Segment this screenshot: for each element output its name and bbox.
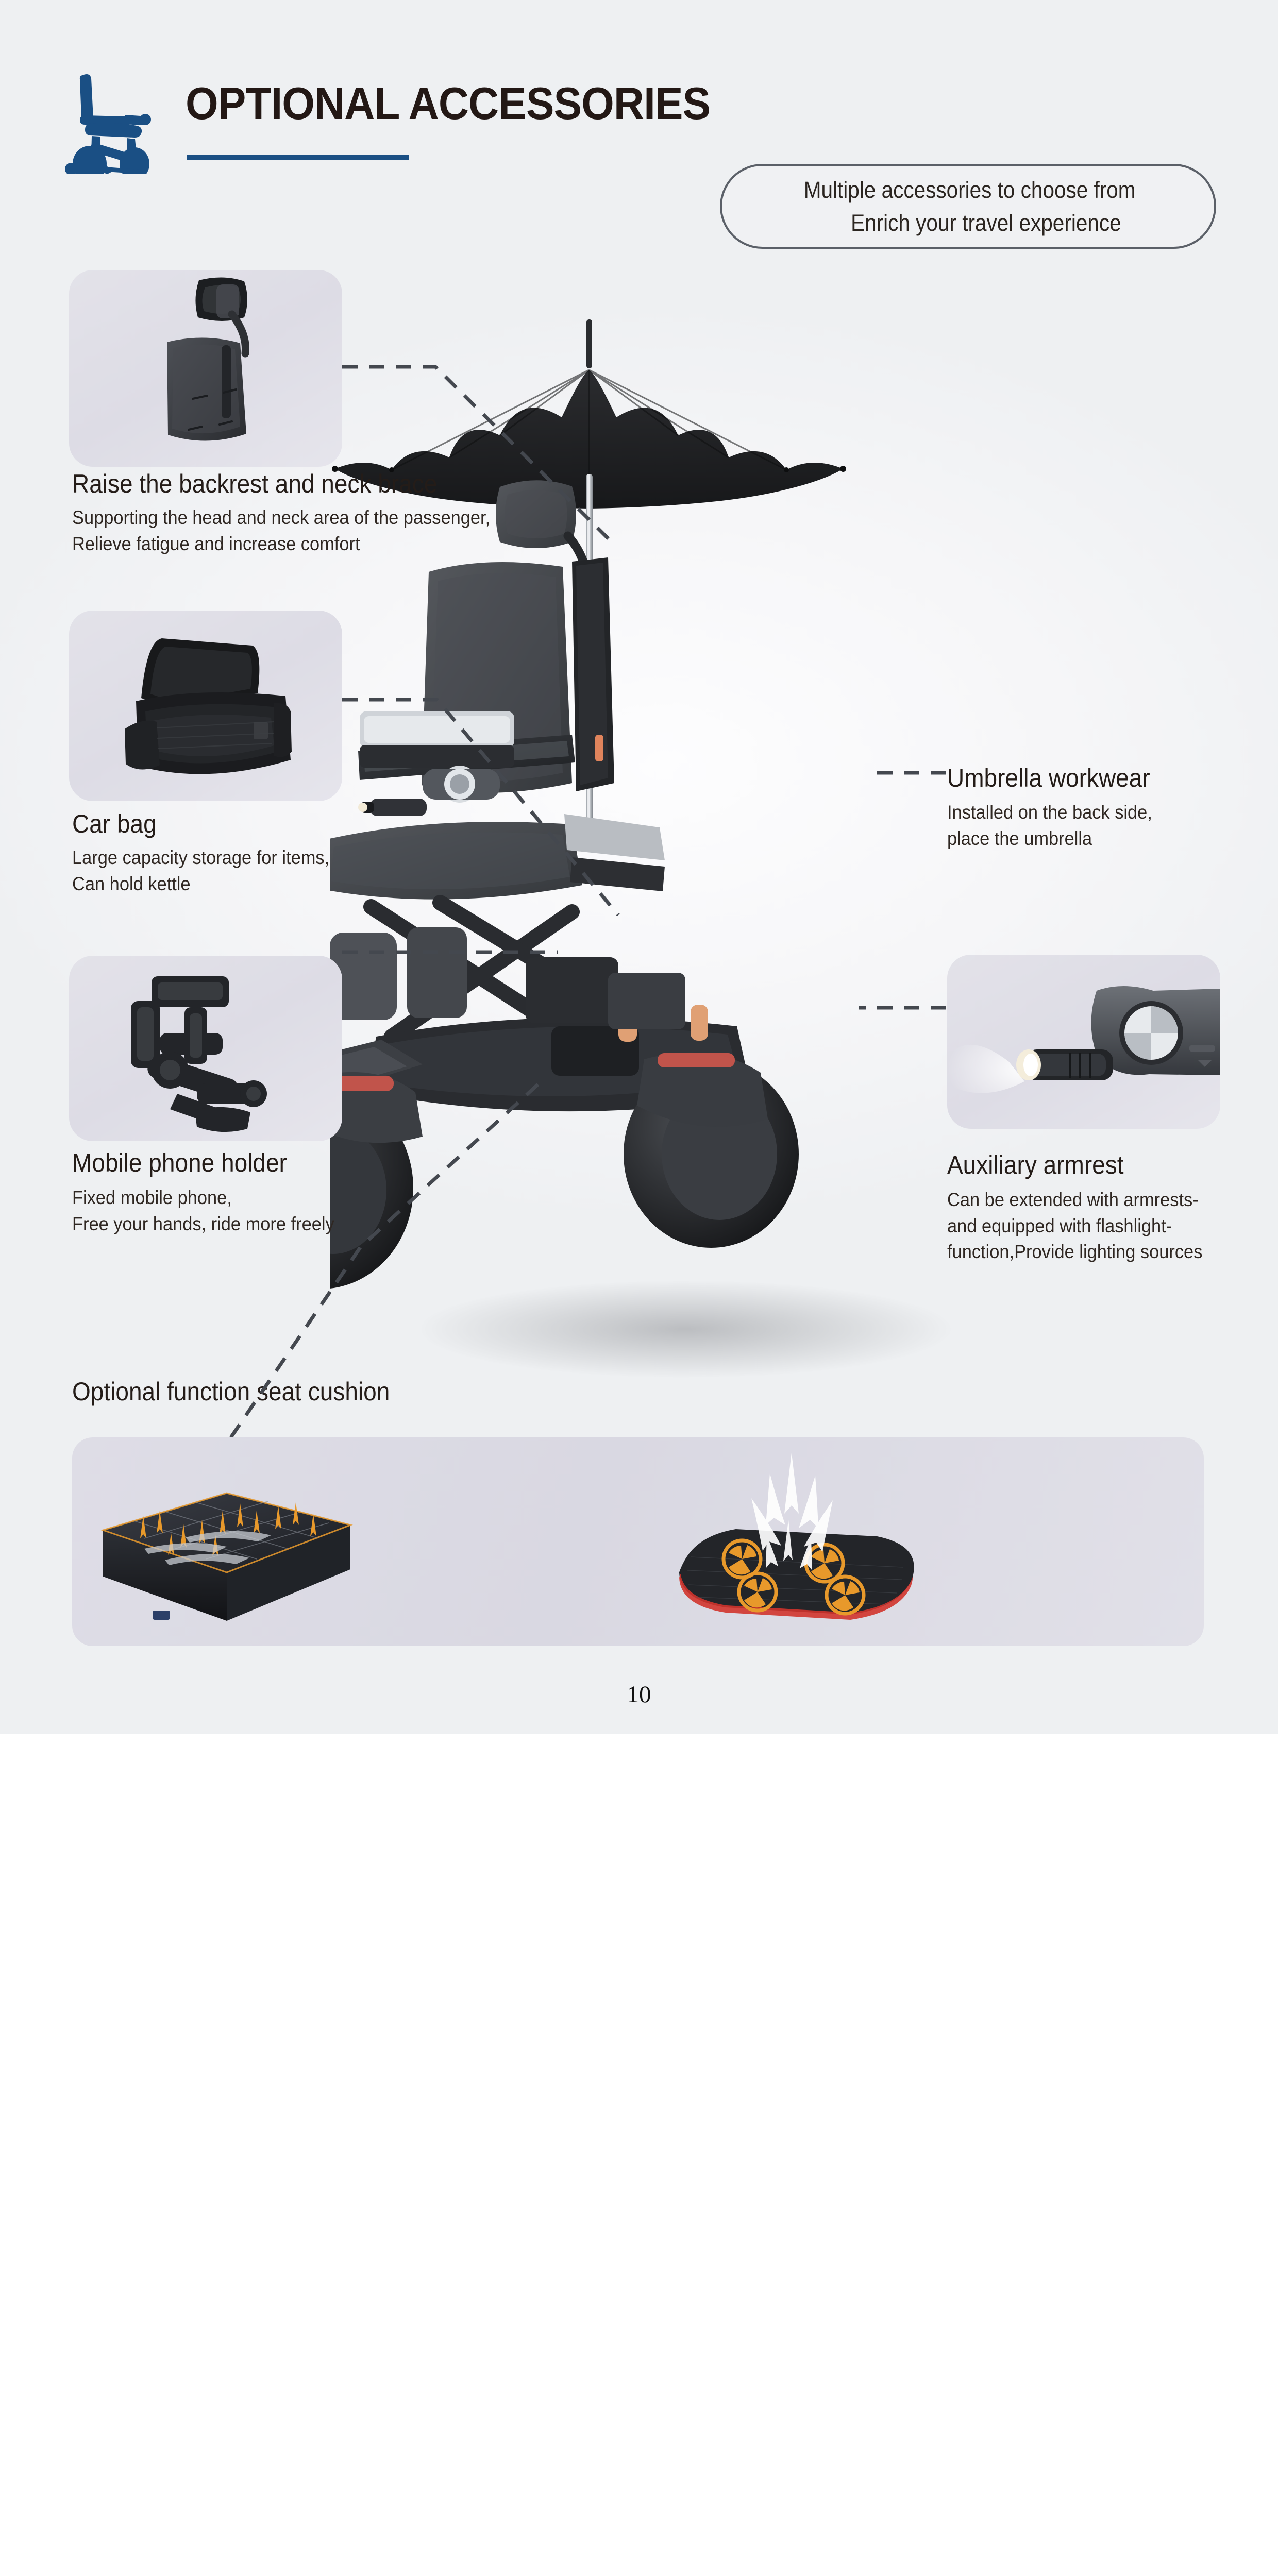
feature-body-neckbrace: Supporting the head and neck area of the… xyxy=(72,505,490,557)
page-number: 10 xyxy=(0,1681,1278,1708)
feature-body-line: Large capacity storage for items, xyxy=(72,845,329,871)
feature-body-line: Can be extended with armrests- xyxy=(947,1187,1202,1213)
power-wheelchair-icon xyxy=(61,66,169,174)
cushion-panel: Inflatable seat cushion: Reduce impact, … xyxy=(72,1437,1204,1646)
feature-body-phoneholder: Fixed mobile phone, Free your hands, rid… xyxy=(72,1185,334,1237)
tagline-line-1: Multiple accessories to choose from xyxy=(804,174,1136,207)
feature-title-armrest: Auxiliary armrest xyxy=(947,1150,1124,1180)
feature-body-line: Can hold kettle xyxy=(72,871,329,897)
feature-title-umbrella: Umbrella workwear xyxy=(947,763,1150,793)
ventilation-cushion-photo xyxy=(679,1453,914,1620)
feature-body-line: Installed on the back side, xyxy=(947,800,1152,826)
car-bag-photo xyxy=(69,611,342,801)
thumbnail-card-neckbrace xyxy=(69,270,342,467)
feature-body-line: Free your hands, ride more freely xyxy=(72,1211,334,1238)
seat-cushion xyxy=(330,822,582,900)
cushion-panel-images xyxy=(72,1437,1204,1646)
feature-title-carbag: Car bag xyxy=(72,809,157,839)
thumbnail-card-carbag xyxy=(69,611,342,801)
feature-body-armrest: Can be extended with armrests- and equip… xyxy=(947,1187,1202,1265)
title-underline xyxy=(187,155,409,160)
feature-title-neckbrace: Raise the backrest and neck brace xyxy=(72,469,437,499)
feature-body-line: Fixed mobile phone, xyxy=(72,1185,334,1211)
thumbnail-card-phoneholder xyxy=(69,956,342,1141)
feature-body-line: and equipped with flashlight- xyxy=(947,1213,1202,1240)
feature-body-line: Relieve fatigue and increase comfort xyxy=(72,531,490,557)
feature-body-line: Supporting the head and neck area of the… xyxy=(72,505,490,531)
brochure-page: OPTIONAL ACCESSORIES Multiple accessorie… xyxy=(0,0,1278,1734)
feature-body-line: place the umbrella xyxy=(947,826,1152,852)
phone-holder-photo xyxy=(69,956,342,1141)
tagline-box: Multiple accessories to choose from Enri… xyxy=(720,164,1216,249)
feature-body-carbag: Large capacity storage for items, Can ho… xyxy=(72,845,329,897)
thumbnail-card-armrest xyxy=(947,955,1220,1129)
feature-title-phoneholder: Mobile phone holder xyxy=(72,1148,287,1178)
tagline-line-2: Enrich your travel experience xyxy=(851,207,1121,240)
page-title: OPTIONAL ACCESSORIES xyxy=(186,77,710,130)
feature-body-line: function,Provide lighting sources xyxy=(947,1239,1202,1265)
armrest-flashlight-photo xyxy=(947,955,1220,1129)
front-wheel-main xyxy=(330,1072,423,1289)
feature-body-umbrella: Installed on the back side, place the um… xyxy=(947,800,1152,852)
headrest-neck-brace-photo xyxy=(69,270,342,467)
inflatable-cushion-photo xyxy=(103,1493,350,1621)
cushion-section-title: Optional function seat cushion xyxy=(72,1377,390,1406)
